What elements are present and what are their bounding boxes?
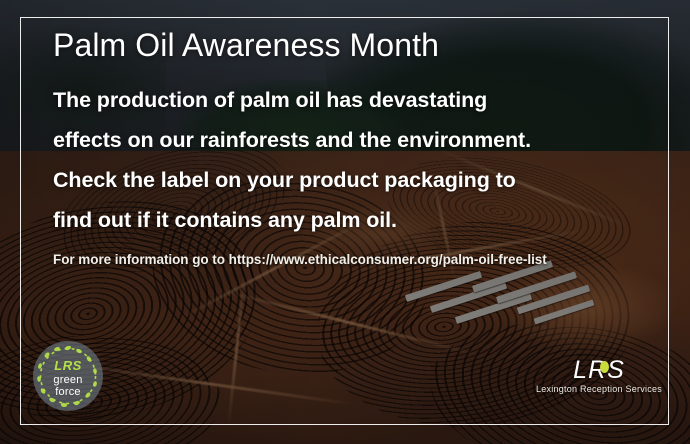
- lrs-green-force-badge: LRS green force: [33, 341, 103, 411]
- lrs-wordmark: LRS: [573, 357, 625, 383]
- lrs-wordmark-text: LRS: [573, 356, 625, 384]
- body-line-3: Check the label on your product packagin…: [53, 160, 531, 200]
- lrs-leaf-dot-icon: [600, 361, 609, 373]
- lrs-subtitle: Lexington Reception Services: [534, 384, 664, 394]
- page-title: Palm Oil Awareness Month: [53, 27, 439, 64]
- body-line-4: find out if it contains any palm oil.: [53, 200, 531, 240]
- body-line-2: effects on our rainforests and the envir…: [53, 120, 531, 160]
- leaf-vine-icon: [33, 341, 103, 411]
- lrs-corporate-logo: LRS Lexington Reception Services: [534, 357, 664, 394]
- body-line-1: The production of palm oil has devastati…: [53, 80, 531, 120]
- more-information-url[interactable]: For more information go to https://www.e…: [53, 252, 547, 267]
- palm-oil-awareness-poster: Palm Oil Awareness Month The production …: [0, 0, 690, 444]
- poster-body-text: The production of palm oil has devastati…: [53, 80, 531, 240]
